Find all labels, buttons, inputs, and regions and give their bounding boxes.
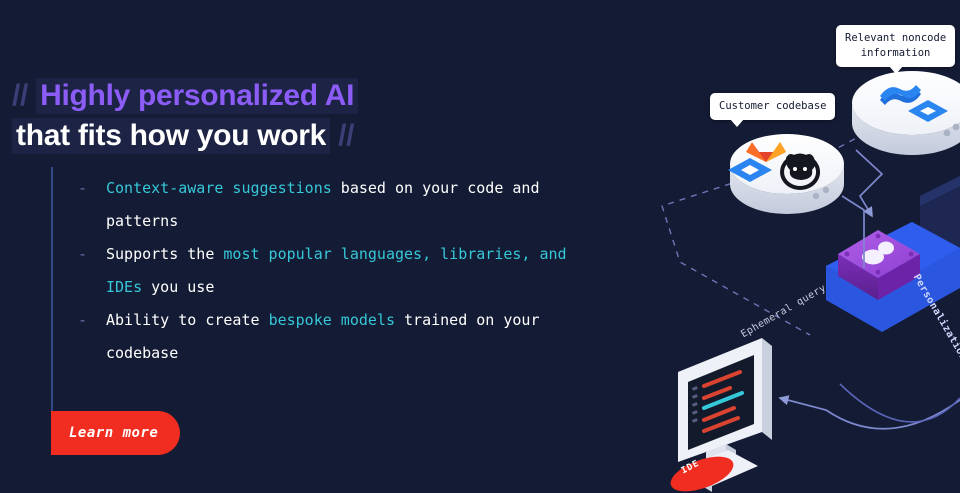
list-item: - Context-aware suggestions based on you… [78, 172, 598, 238]
bullet-plain: Supports the [106, 245, 223, 263]
arrow-noncode-to-service [856, 150, 882, 216]
headline-text-1: Highly personalized AI [36, 78, 358, 114]
tooltip-customer-codebase: Customer codebase [710, 93, 835, 120]
noncode-datastore [852, 71, 960, 155]
bullet-dash: - [78, 304, 87, 337]
list-item: - Ability to create bespoke models train… [78, 304, 598, 370]
bullet-highlight: Context-aware suggestions [106, 179, 332, 197]
bullet-plain: Ability to create [106, 311, 269, 329]
page-title: // Highly personalized AI that fits how … [12, 76, 612, 156]
feature-list: - Context-aware suggestions based on you… [78, 172, 598, 370]
learn-more-button[interactable]: Learn more [51, 411, 180, 455]
vertical-rule [51, 167, 53, 420]
bullet-plain: you use [142, 278, 214, 296]
bullet-dash: - [78, 172, 87, 205]
headline-line-2: that fits how you work // [12, 116, 612, 156]
arrow-service-to-ide [780, 398, 960, 429]
bullet-dash: - [78, 238, 87, 271]
headline-text-2: that fits how you work [12, 118, 330, 154]
tooltip-noncode-information: Relevant noncode information [836, 25, 955, 67]
slash-open: // [12, 79, 28, 112]
diagram-canvas [620, 0, 960, 493]
content-column: // Highly personalized AI that fits how … [0, 0, 620, 493]
hero-section: // Highly personalized AI that fits how … [0, 0, 960, 493]
architecture-diagram [620, 0, 960, 493]
bullet-highlight: bespoke models [269, 311, 395, 329]
slash-close: // [338, 119, 354, 152]
bottom-curve [840, 384, 960, 422]
codebase-datastore [728, 134, 844, 214]
list-item: - Supports the most popular languages, l… [78, 238, 598, 304]
headline-line-1: // Highly personalized AI [12, 76, 612, 116]
